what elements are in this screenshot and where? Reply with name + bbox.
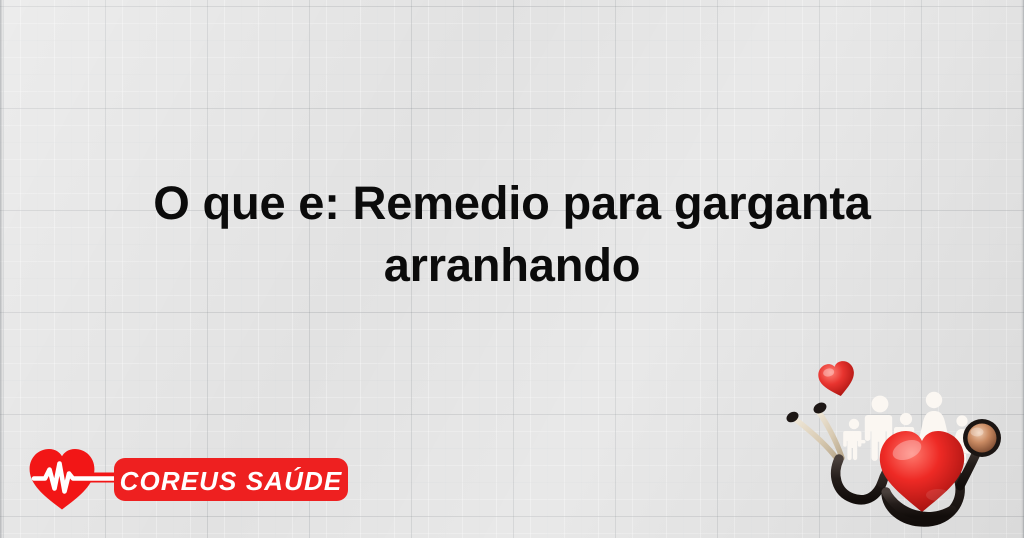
- brand-logo[interactable]: COREUS SAÚDE: [28, 447, 350, 511]
- poster-canvas: O que e: Remedio para garganta arranhand…: [0, 0, 1024, 538]
- heart-with-ecg-pulse-icon: [30, 449, 122, 510]
- page-title: O que e: Remedio para garganta arranhand…: [60, 172, 964, 296]
- stethoscope-chestpiece-icon: [963, 419, 1001, 457]
- medical-collage: [782, 352, 1024, 538]
- brand-name-text: COREUS SAÚDE: [120, 466, 343, 496]
- small-heart-icon: [816, 359, 858, 400]
- left-edge-shadow: [0, 0, 3, 538]
- stethoscope-eartubes-icon: [785, 400, 842, 460]
